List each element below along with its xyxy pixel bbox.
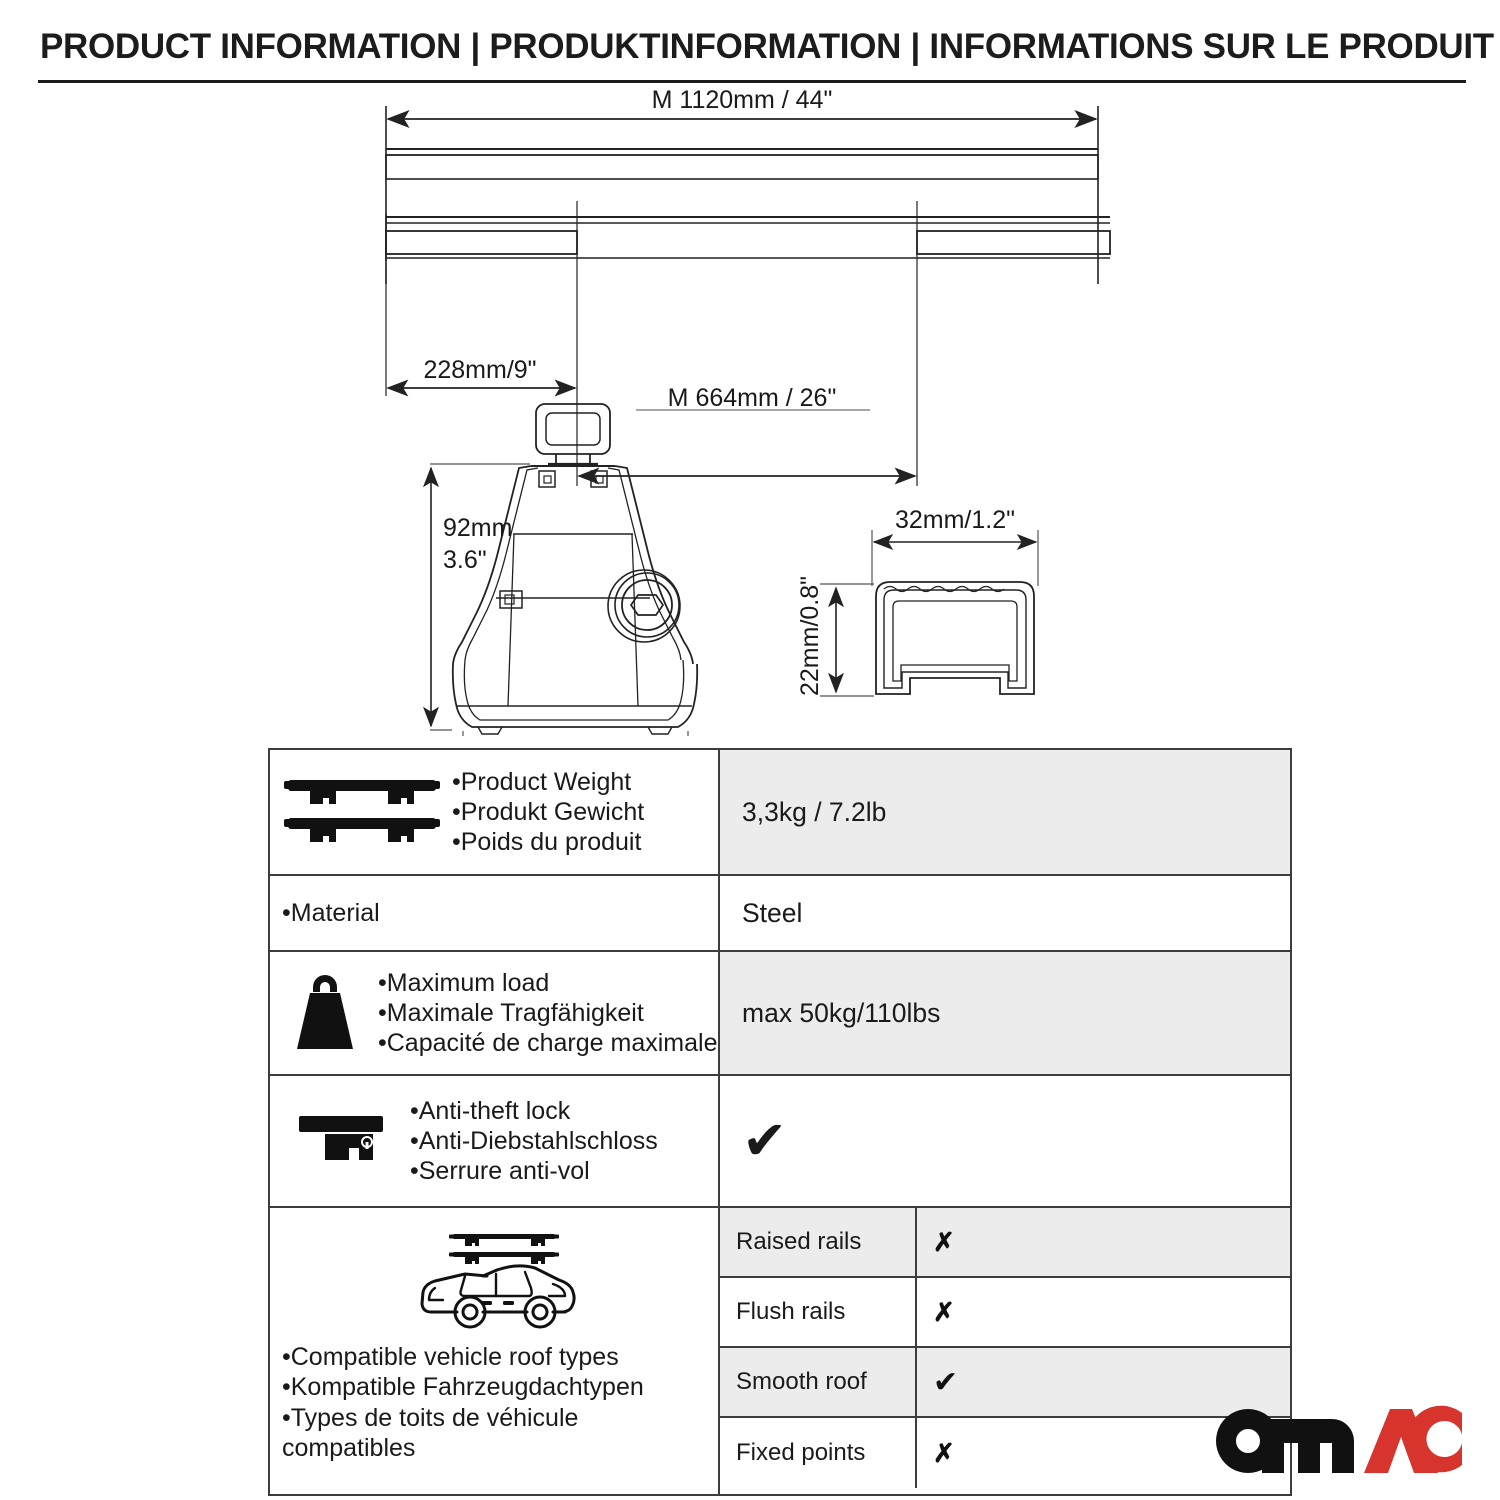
spec-label-cell: •Compatible vehicle roof types •Kompatib… <box>270 1208 720 1494</box>
spec-label-line: •Material <box>282 898 714 928</box>
table-row: •Maximum load •Maximale Tragfähigkeit •C… <box>270 952 1290 1076</box>
spec-label-line: •Compatible vehicle roof types <box>282 1342 714 1372</box>
spec-label-line: •Product Weight <box>452 767 714 797</box>
spec-label-cell: •Maximum load •Maximale Tragfähigkeit •C… <box>270 952 720 1074</box>
omac-logo-mark <box>1212 1405 1462 1477</box>
spec-label-line: •Types de toits de véhicule compatibles <box>282 1403 714 1464</box>
spec-label-line: •Maximum load <box>378 968 717 998</box>
page-title: PRODUCT INFORMATION | PRODUKTINFORMATION… <box>40 26 1444 67</box>
spec-label-line: •Poids du produit <box>452 827 714 857</box>
roof-type-subtable: Raised rails ✗ Flush rails ✗ Smooth roof… <box>720 1208 1290 1494</box>
table-row: •Material Steel <box>270 876 1290 952</box>
spec-label-line: •Serrure anti-vol <box>410 1156 714 1186</box>
spec-label-cell: •Material <box>270 876 720 950</box>
omac-logo-red-part <box>1364 1406 1462 1473</box>
roof-type-row: Raised rails ✗ <box>720 1208 1290 1278</box>
spec-label-line: •Kompatible Fahrzeugdachtypen <box>282 1372 714 1402</box>
spec-value-cell: ✔ <box>720 1076 1290 1206</box>
profile-height-label: 22mm/0.8" <box>796 576 824 696</box>
car-with-rack-icon <box>282 1226 714 1332</box>
roof-type-name: Fixed points <box>720 1418 917 1488</box>
roof-type-row: Flush rails ✗ <box>720 1278 1290 1348</box>
roof-type-name: Raised rails <box>720 1208 917 1276</box>
spec-label-line: •Maximale Tragfähigkeit <box>378 998 717 1028</box>
spec-value-cell: max 50kg/110lbs <box>720 952 1290 1074</box>
roof-type-support-mark: ✗ <box>917 1208 1290 1276</box>
table-row: •Compatible vehicle roof types •Kompatib… <box>270 1208 1290 1494</box>
roof-type-row: Fixed points ✗ <box>720 1418 1290 1488</box>
roof-type-row: Smooth roof ✔ <box>720 1348 1290 1418</box>
spec-label-line: •Anti-theft lock <box>410 1096 714 1126</box>
roof-type-support-mark: ✗ <box>917 1278 1290 1346</box>
table-row: •Product Weight •Produkt Gewicht •Poids … <box>270 750 1290 876</box>
foot-offset-label: 228mm/9" <box>423 356 536 384</box>
lock-icon <box>282 1106 400 1176</box>
spec-value-cell: 3,3kg / 7.2lb <box>720 750 1290 874</box>
spec-label-cell: •Product Weight •Produkt Gewicht •Poids … <box>270 750 720 874</box>
weight-icon <box>282 971 368 1055</box>
bar-span-label: M 664mm / 26" <box>668 384 837 412</box>
profile-width-label: 32mm/1.2" <box>895 506 1015 534</box>
omac-logo <box>1212 1406 1462 1476</box>
technical-drawing: M 1120mm / 44" 228mm/9" M 664mm / 26" <box>0 86 1500 736</box>
spec-table: •Product Weight •Produkt Gewicht •Poids … <box>268 748 1292 1496</box>
omac-logo-dark-part <box>1216 1409 1354 1473</box>
foot-height-label-in: 3.6" <box>443 546 487 574</box>
roof-type-name: Smooth roof <box>720 1348 917 1416</box>
bar-length-label: M 1120mm / 44" <box>652 86 833 114</box>
header-divider <box>38 80 1466 83</box>
foot-height-label-mm: 92mm <box>443 514 512 542</box>
checkmark-icon: ✔ <box>742 1114 787 1168</box>
page-header: PRODUCT INFORMATION | PRODUKTINFORMATION… <box>0 0 1500 86</box>
spec-label-line: •Capacité de charge maximale <box>378 1028 717 1058</box>
spec-label-cell: •Anti-theft lock •Anti-Diebstahlschloss … <box>270 1076 720 1206</box>
crossbars-icon <box>282 772 442 852</box>
table-row: •Anti-theft lock •Anti-Diebstahlschloss … <box>270 1076 1290 1208</box>
spec-value-cell: Steel <box>720 876 1290 950</box>
roof-type-name: Flush rails <box>720 1278 917 1346</box>
spec-label-line: •Produkt Gewicht <box>452 797 714 827</box>
spec-label-line: •Anti-Diebstahlschloss <box>410 1126 714 1156</box>
